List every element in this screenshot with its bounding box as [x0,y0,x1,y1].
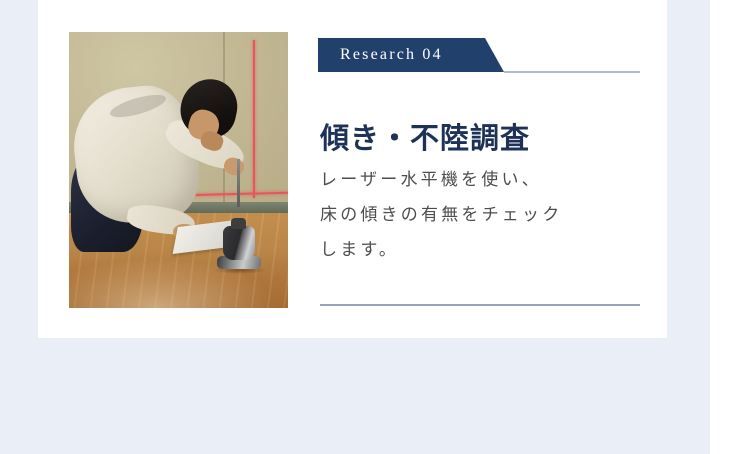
research-description-line-1: レーザー水平機を使い、 [320,163,650,198]
research-photo [69,32,288,308]
research-number-badge-label: Research 04 [318,46,443,64]
research-content: Research 04 傾き・不陸調査 レーザー水平機を使い、 床の傾きの有無を… [318,0,648,338]
research-title: 傾き・不陸調査 [320,122,530,157]
photo-illustration [69,32,288,308]
page-right-white-strip [710,0,750,454]
research-description: レーザー水平機を使い、 床の傾きの有無をチェック します。 [320,163,650,268]
research-number-badge: Research 04 [318,38,504,72]
photo-laser-device-body [223,226,255,260]
research-badge-row: Research 04 [318,38,648,73]
research-description-line-2: 床の傾きの有無をチェック [320,198,650,233]
research-card: Research 04 傾き・不陸調査 レーザー水平機を使い、 床の傾きの有無を… [38,0,667,338]
photo-measuring-rod [237,159,240,207]
photo-laser-device-top [231,218,246,229]
research-card-inner: Research 04 傾き・不陸調査 レーザー水平機を使い、 床の傾きの有無を… [38,0,667,338]
research-description-line-3: します。 [320,233,650,268]
badge-divider-rule [504,71,640,73]
photo-laser-line-vertical [253,40,255,198]
research-bottom-rule [320,304,640,306]
